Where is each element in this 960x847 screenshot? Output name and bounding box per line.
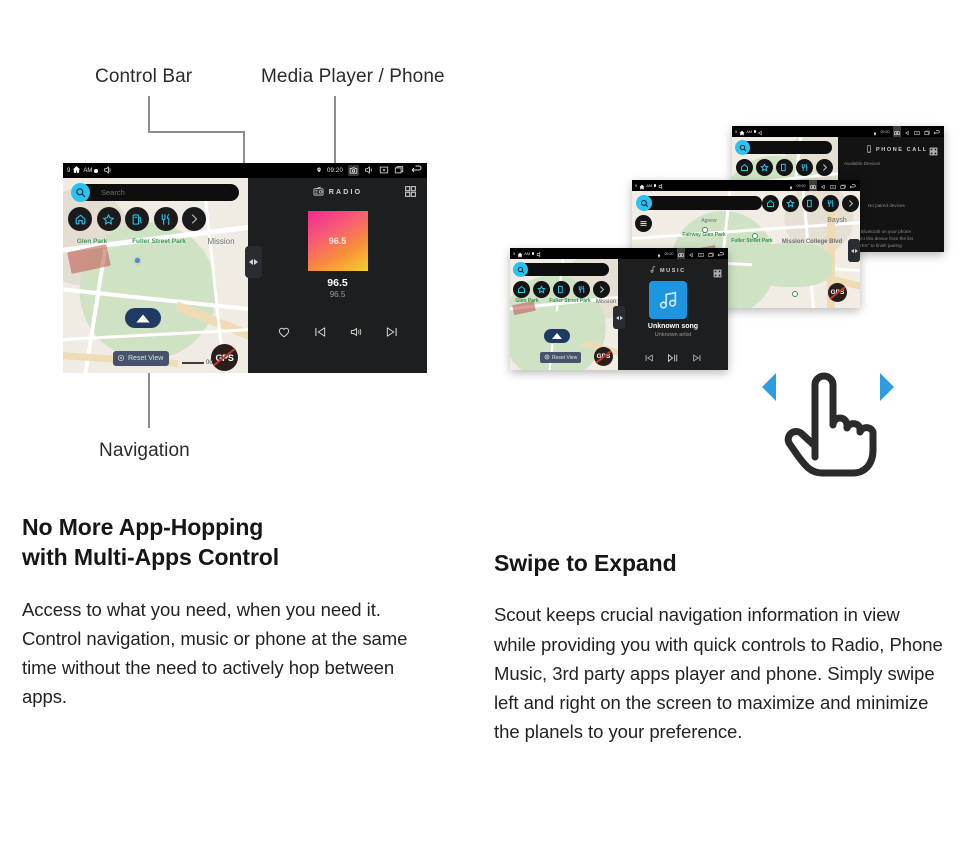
callout-media-player-phone: Media Player / Phone	[261, 66, 445, 88]
reset-view-button[interactable]: Reset View	[540, 352, 581, 363]
card-status-bar: 9 AM 09:20	[632, 180, 860, 191]
star-icon[interactable]	[756, 159, 773, 176]
map-label: Fuller Street Park	[730, 239, 774, 244]
phone-header-label: PHONE CALL	[876, 147, 928, 153]
map-label: Mission	[592, 299, 618, 305]
search-input[interactable]: Search	[79, 184, 239, 201]
screenshot-icon[interactable]	[379, 165, 389, 177]
media-controls[interactable]	[618, 350, 728, 368]
map-label: Glen Park	[65, 238, 119, 245]
status-time-left: 9	[513, 251, 515, 256]
leader-navigation	[148, 372, 150, 428]
reset-view-label: Reset View	[128, 355, 163, 362]
track-title: Unknown song	[618, 323, 728, 330]
status-time-left: 9	[735, 129, 737, 134]
grid-icon[interactable]	[404, 185, 417, 203]
reset-view-label: Reset View	[552, 355, 577, 361]
status-time-left: 9	[635, 183, 637, 188]
callout-control-bar: Control Bar	[95, 66, 192, 88]
gas-pump-icon[interactable]	[125, 207, 149, 231]
panel-swipe-handle[interactable]	[613, 306, 625, 329]
volume-icon[interactable]	[349, 325, 363, 344]
radio-icon	[313, 186, 324, 198]
heading-line-1: No More App-Hopping	[22, 514, 263, 540]
section-right-body: Scout keeps crucial navigation infor­mat…	[494, 600, 944, 746]
heading-line-2: with Multi-Apps Control	[22, 544, 279, 570]
section-left-heading: No More App-Hopping with Multi-Apps Cont…	[22, 512, 442, 573]
heart-icon[interactable]	[277, 325, 291, 344]
status-clock: 09:20	[881, 130, 890, 134]
map-heading-arrow[interactable]	[544, 329, 570, 343]
search-icon[interactable]	[636, 195, 652, 211]
section-left: No More App-Hopping with Multi-Apps Cont…	[22, 512, 442, 712]
album-art	[649, 281, 687, 319]
map-label: Baysh	[817, 217, 857, 224]
media-header-label: RADIO	[329, 189, 363, 196]
music-header: MUSIC	[650, 266, 686, 275]
gps-status-badge[interactable]: GPS	[594, 347, 613, 366]
quick-access-row[interactable]	[736, 159, 833, 176]
track-subtitle: Unknown artist	[618, 332, 728, 338]
panel-swipe-handle[interactable]	[848, 239, 860, 262]
status-meridiem: AM	[646, 183, 652, 188]
search-input[interactable]	[642, 196, 762, 210]
home-icon[interactable]	[72, 165, 81, 176]
map-label: Fuller Street Park	[131, 238, 187, 245]
available-devices-label: Available Devices	[844, 161, 880, 168]
scale-line	[182, 362, 204, 364]
navigation-panel[interactable]: Search Glen Park Fuller Str	[63, 178, 248, 373]
gps-status-badge[interactable]: GPS	[828, 283, 847, 302]
music-note-icon	[650, 266, 656, 275]
panel-swipe-handle[interactable]	[245, 246, 262, 278]
phone-icon	[866, 145, 872, 155]
gas-pump-icon[interactable]	[553, 281, 570, 298]
search-icon[interactable]	[71, 183, 90, 202]
media-controls[interactable]	[248, 325, 427, 344]
arrow-right-icon	[844, 373, 894, 401]
card-map-area[interactable]: Glen Park Fuller Street Park Mission Res…	[510, 259, 618, 370]
search-icon[interactable]	[513, 262, 528, 277]
restaurant-icon[interactable]	[822, 195, 839, 212]
search-input[interactable]	[519, 263, 609, 276]
arrow-left-icon	[762, 373, 808, 401]
no-paired-devices-text: No paired devices	[868, 203, 905, 210]
previous-icon[interactable]	[313, 325, 327, 344]
music-header-label: MUSIC	[660, 268, 686, 274]
home-icon[interactable]	[736, 159, 753, 176]
map-label: Mission	[194, 238, 248, 247]
track-title: 96.5	[248, 277, 427, 289]
grid-icon[interactable]	[713, 265, 722, 283]
status-meridiem: AM	[746, 129, 752, 134]
status-meridiem: AM	[83, 168, 92, 174]
swipe-gesture-illustration	[760, 365, 910, 490]
chevron-right-icon[interactable]	[816, 159, 833, 176]
map-label: Fuller Street Park	[548, 299, 592, 304]
search-input[interactable]	[740, 141, 832, 154]
quick-access-row[interactable]	[513, 281, 610, 298]
main-device-screenshot: 9 AM 09:20	[63, 163, 427, 373]
restaurant-icon[interactable]	[154, 207, 178, 231]
search-area[interactable]: Search	[67, 183, 242, 203]
map-label: Mission College Blvd	[777, 239, 847, 245]
camera-icon[interactable]	[348, 165, 359, 176]
star-icon[interactable]	[97, 207, 121, 231]
restaurant-icon[interactable]	[796, 159, 813, 176]
chevron-right-icon[interactable]	[593, 281, 610, 298]
leader-control-bar-horizontal	[148, 131, 244, 133]
chevron-right-icon[interactable]	[842, 195, 859, 212]
media-header: RADIO	[248, 186, 427, 198]
next-icon[interactable]	[385, 325, 399, 344]
previous-icon[interactable]	[644, 350, 654, 368]
target-icon	[117, 354, 125, 364]
star-icon[interactable]	[782, 195, 799, 212]
music-card[interactable]: 9 AM 09:20	[510, 248, 728, 370]
map-label: Agnew	[692, 219, 726, 224]
status-clock: 09:20	[327, 168, 343, 174]
search-icon[interactable]	[735, 140, 750, 155]
volume-icon[interactable]	[364, 165, 374, 177]
leader-control-bar-vertical	[148, 96, 150, 132]
star-icon[interactable]	[533, 281, 550, 298]
status-dot-icon	[654, 184, 657, 187]
callout-navigation: Navigation	[99, 440, 190, 462]
status-dot-icon	[754, 130, 757, 133]
status-clock: 09:20	[665, 252, 674, 256]
map-label: Glen Park	[510, 299, 544, 304]
home-icon[interactable]	[762, 195, 779, 212]
phone-header: PHONE CALL	[866, 145, 928, 155]
album-art-label: 96.5	[329, 236, 347, 246]
gps-status-badge[interactable]: GPS	[211, 344, 238, 371]
section-right: Swipe to Expand Scout keeps crucial navi…	[494, 548, 944, 746]
section-right-heading: Swipe to Expand	[494, 548, 944, 578]
gas-pump-icon[interactable]	[776, 159, 793, 176]
reset-view-button[interactable]: Reset View	[113, 351, 169, 366]
home-icon[interactable]	[68, 207, 92, 231]
volume-icon[interactable]	[103, 165, 113, 177]
map-heading-arrow[interactable]	[125, 308, 161, 328]
status-meridiem: AM	[524, 251, 530, 256]
restaurant-icon[interactable]	[573, 281, 590, 298]
chevron-right-icon[interactable]	[182, 207, 206, 231]
next-icon[interactable]	[692, 350, 702, 368]
card-status-bar: 9 AM 09:20	[510, 248, 728, 259]
menu-icon[interactable]	[635, 215, 652, 232]
map-label: Fairway Glen Park	[682, 233, 726, 238]
media-player-panel[interactable]: RADIO 96.5 96.5 96.5	[248, 178, 427, 373]
leader-media-player	[334, 96, 336, 172]
play-pause-icon[interactable]	[667, 350, 679, 368]
album-art: 96.5	[308, 211, 368, 271]
grid-icon[interactable]	[929, 143, 938, 161]
target-icon	[544, 354, 550, 362]
device-status-bar: 9 AM 09:20	[63, 163, 427, 178]
back-icon[interactable]	[411, 165, 423, 177]
chevron-left-icon	[249, 259, 253, 265]
status-time-left: 9	[67, 168, 70, 174]
status-dot-icon	[94, 169, 98, 173]
gas-pump-icon[interactable]	[802, 195, 819, 212]
card-status-bar: 9 AM 09:20	[732, 126, 944, 137]
status-dot-icon	[532, 252, 535, 255]
recents-icon[interactable]	[394, 165, 404, 177]
location-pin-icon	[316, 167, 322, 175]
music-panel[interactable]: MUSIC Unknown song Unknown artist	[618, 259, 728, 370]
quick-access-row[interactable]	[68, 207, 206, 231]
home-icon[interactable]	[513, 281, 530, 298]
section-left-body: Access to what you need, when you need i…	[22, 595, 442, 712]
track-subtitle: 96.5	[248, 290, 427, 299]
chevron-right-icon	[254, 259, 258, 265]
status-clock: 09:20	[797, 184, 806, 188]
quick-access-row[interactable]	[762, 195, 859, 212]
